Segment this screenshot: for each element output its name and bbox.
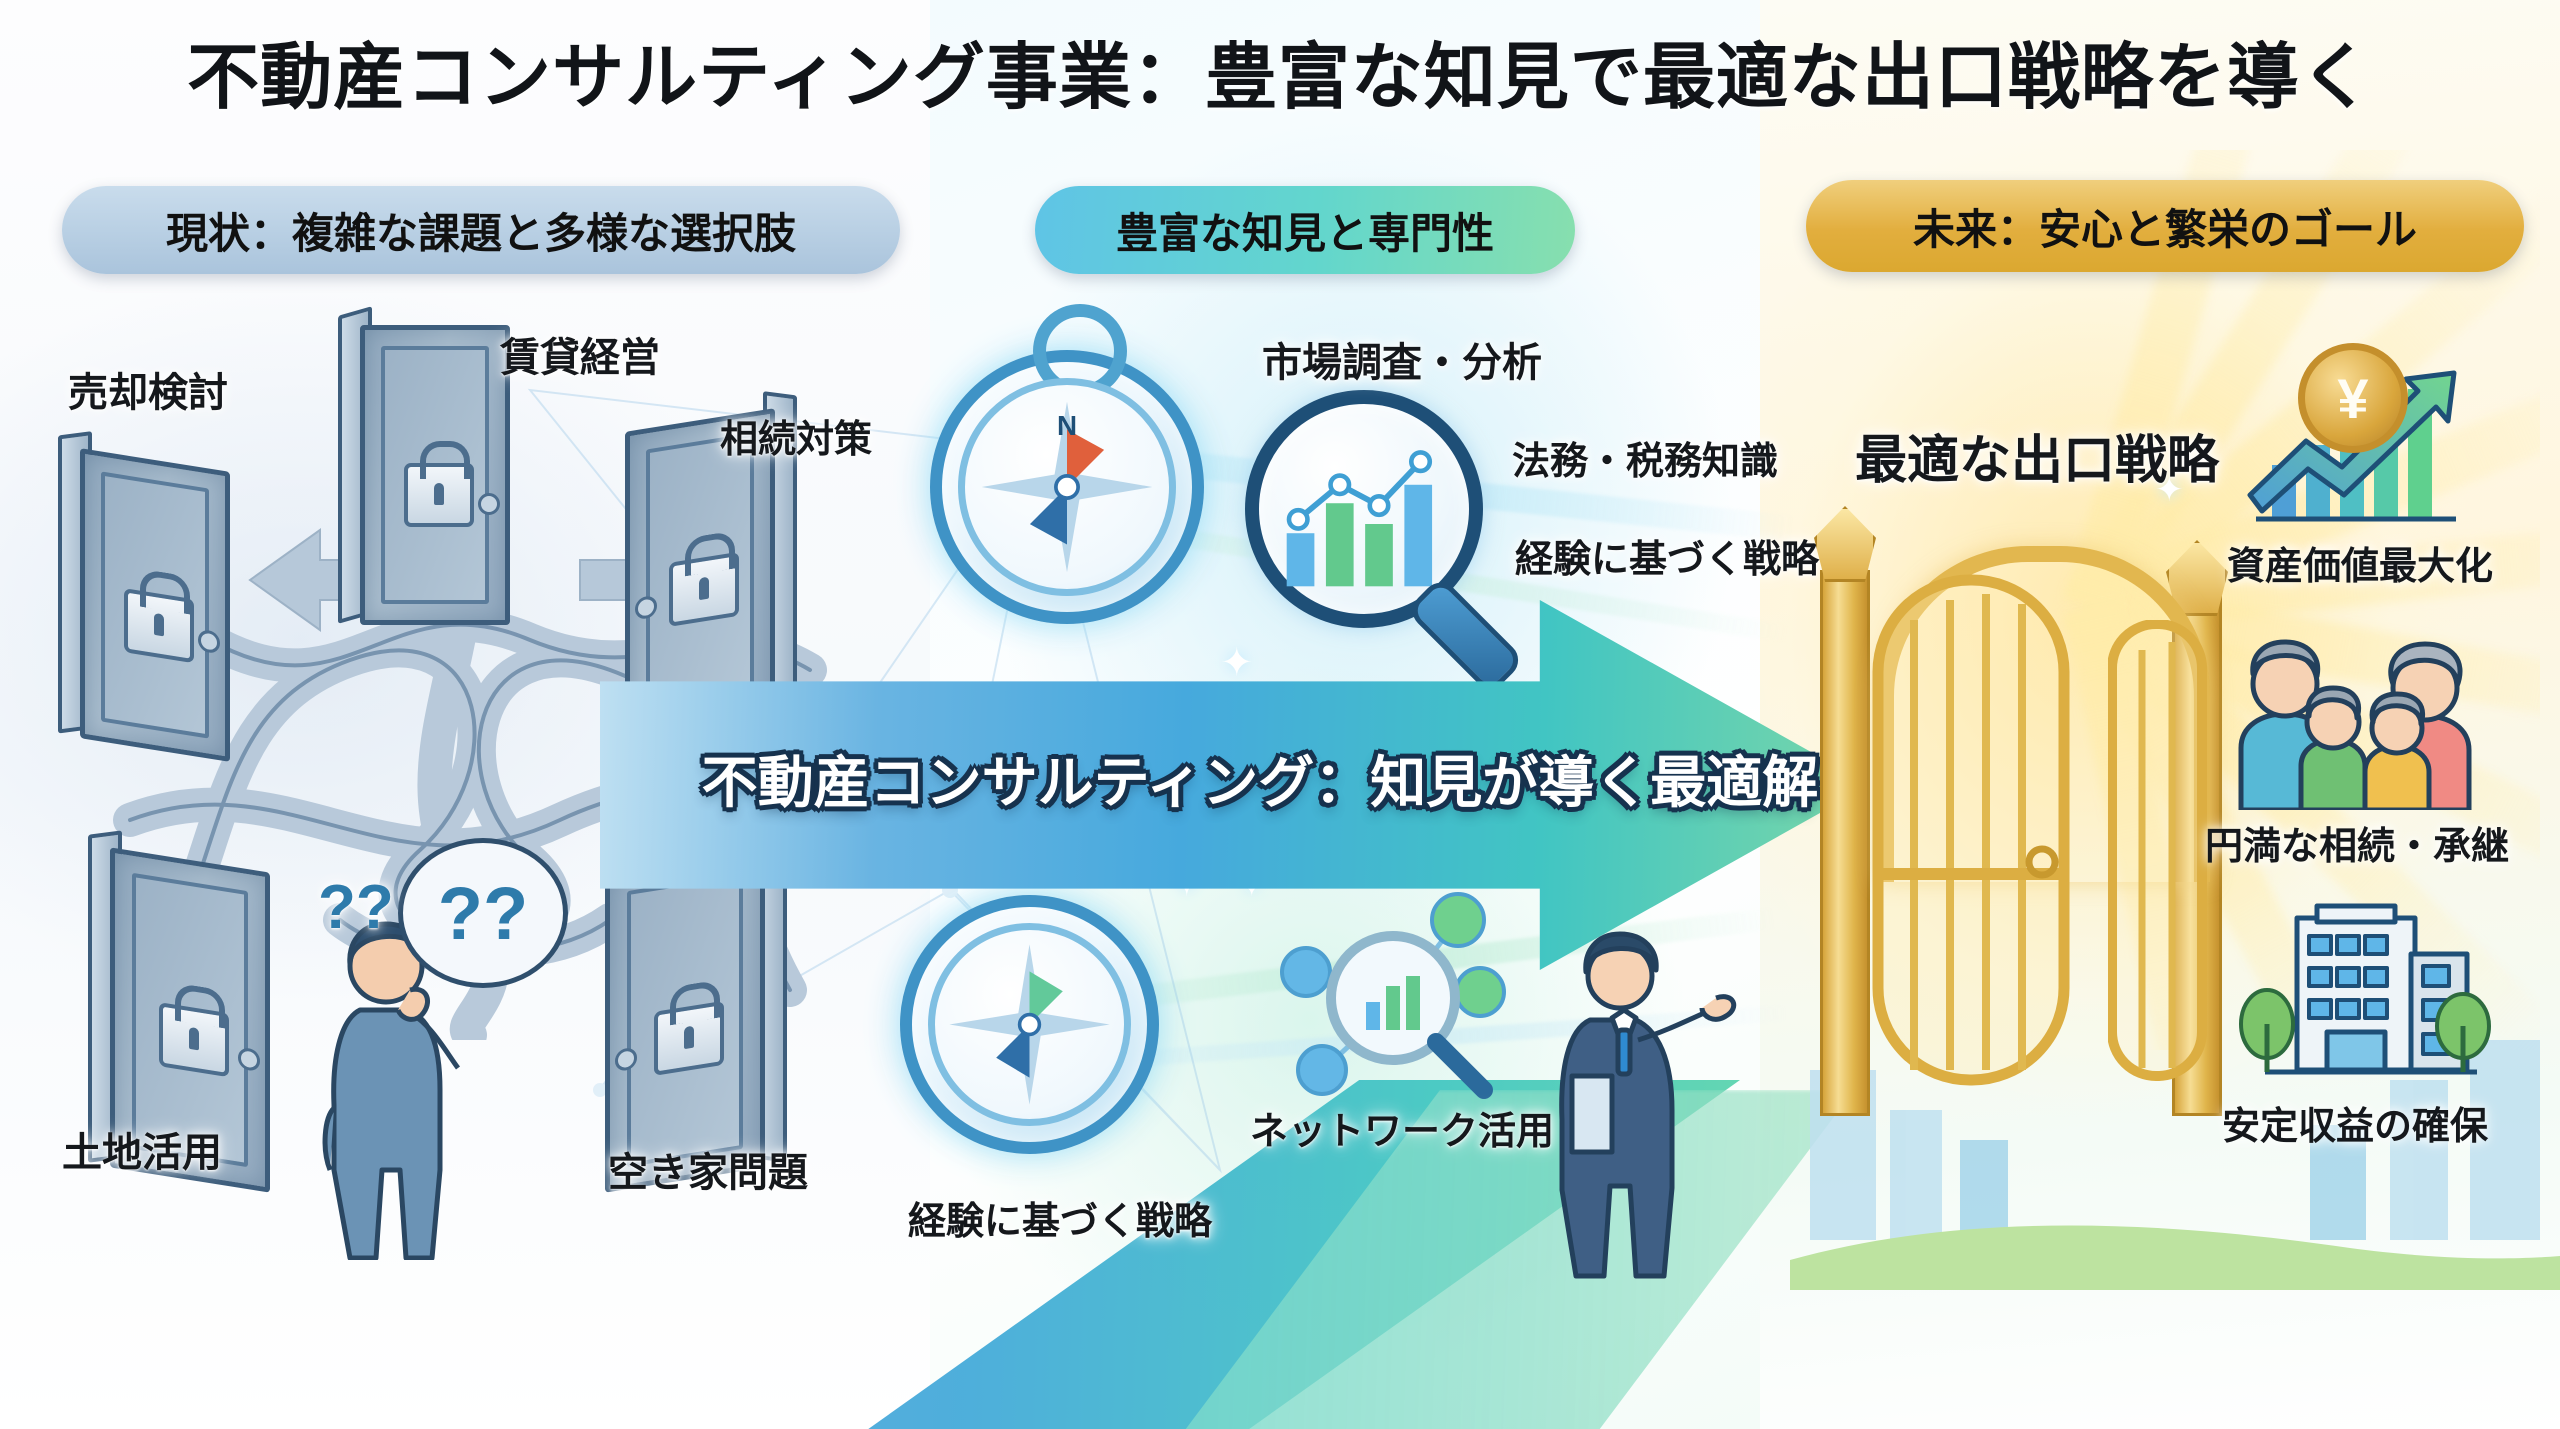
family-icon [2205, 630, 2505, 810]
door-label-land-use: 土地活用 [62, 1120, 222, 1178]
thought-bubble-icon: ?? [398, 838, 568, 988]
outcome-inheritance-label: 円満な相続・承継 [2205, 815, 2505, 870]
section-header-expertise: 豊富な知見と専門性 [1035, 186, 1575, 274]
middle-label-experience-strategy-upper: 経験に基づく戦略 [1515, 528, 1819, 583]
infographic-canvas: 不動産コンサルティング事業：豊富な知見で最適な出口戦略を導く 現状：複雑な課題と… [0, 0, 2560, 1429]
compass-icon: N [930, 350, 1204, 624]
building-icon [2205, 900, 2505, 1090]
outcome-stable-income-label: 安定収益の確保 [2205, 1095, 2505, 1150]
yen-coin-icon: ¥ [2298, 343, 2408, 453]
thought-marks-small: ?? [318, 872, 394, 943]
door-label-sale: 売却検討 [68, 360, 228, 418]
section-header-future: 未来：安心と繁栄のゴール [1806, 180, 2524, 272]
yen-symbol: ¥ [2337, 366, 2368, 431]
page-title: 不動産コンサルティング事業：豊富な知見で最適な出口戦略を導く [0, 18, 2560, 123]
compass-north-label: N [1057, 410, 1077, 441]
outcome-stable-income: 安定収益の確保 [2205, 900, 2505, 1150]
sparkle-icon: ✦ [1220, 640, 1254, 686]
section-header-current-state-label: 現状：複雑な課題と多様な選択肢 [166, 200, 796, 261]
thought-bubble-text: ?? [438, 871, 528, 956]
section-header-expertise-label: 豊富な知見と専門性 [1116, 200, 1494, 261]
middle-label-market-research: 市場調査・分析 [1262, 330, 1542, 388]
middle-label-network: ネットワーク活用 [1250, 1100, 1554, 1155]
outcome-asset-value: ¥ 資産価値最大化 [2210, 345, 2510, 590]
middle-label-experience-strategy-lower: 経験に基づく戦略 [908, 1190, 1212, 1245]
golden-gate-icon [1820, 470, 2240, 1110]
door-label-inheritance: 相続対策 [720, 408, 872, 463]
outcome-asset-value-label: 資産価値最大化 [2210, 535, 2510, 590]
magnifier-chart-icon [1245, 390, 1545, 690]
outcome-inheritance: 円満な相続・承継 [2205, 630, 2505, 870]
door-label-vacant-house: 空き家問題 [608, 1140, 808, 1198]
section-header-current-state: 現状：複雑な課題と多様な選択肢 [62, 186, 900, 274]
section-header-future-label: 未来：安心と繁栄のゴール [1913, 196, 2417, 257]
arrow-label: 不動産コンサルティング：知見が導く最適解 [700, 728, 1820, 828]
door-label-rental: 賃貸経営 [500, 325, 660, 383]
middle-label-legal-tax: 法務・税務知識 [1512, 430, 1778, 485]
locked-door-icon [360, 325, 510, 625]
locked-door-icon [80, 448, 230, 762]
compass-icon [900, 895, 1159, 1154]
network-node-icon [1268, 880, 1518, 1130]
